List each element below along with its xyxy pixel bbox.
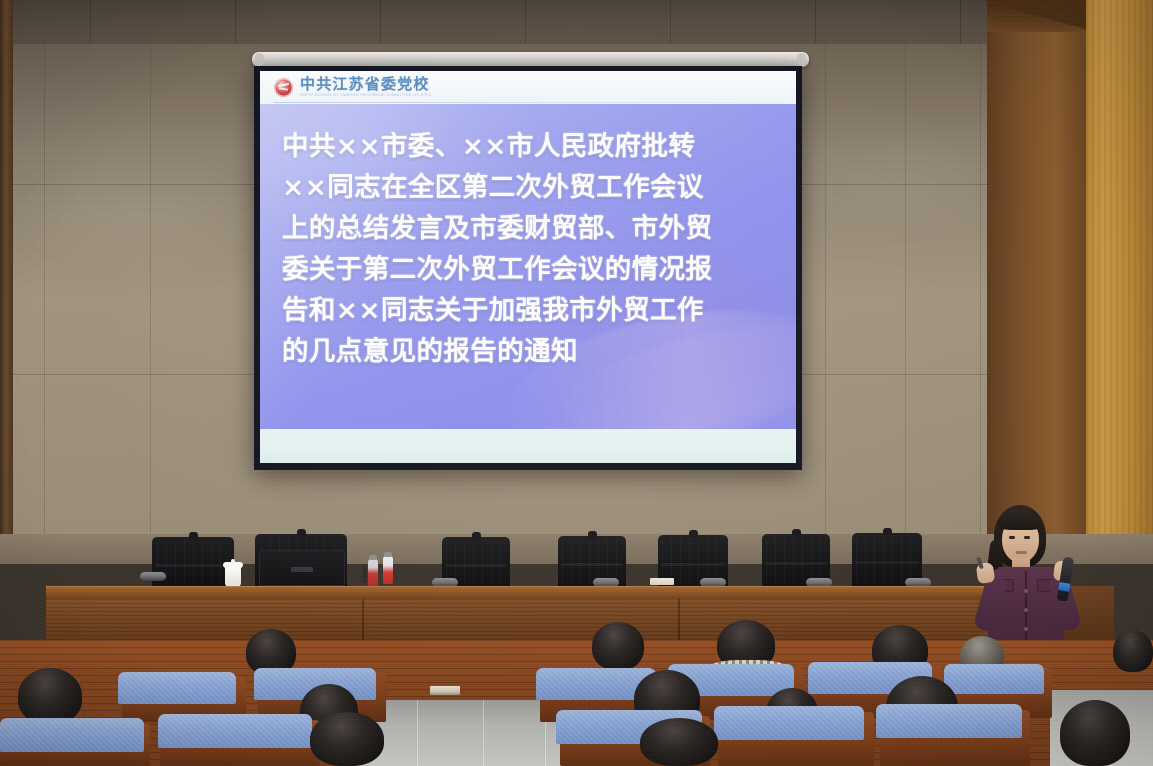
audience-seat[interactable] (714, 706, 864, 740)
laptop[interactable] (259, 550, 345, 586)
slide-header: 中共江苏省委党校 PARTY SCHOOL OF JIANGSU PROVINC… (260, 71, 796, 104)
audience-head (1060, 700, 1130, 766)
roller-cap-left (255, 53, 264, 66)
projection-screen[interactable]: 中共江苏省委党校 PARTY SCHOOL OF JIANGSU PROVINC… (254, 66, 802, 470)
slide-body: 中共××市委、××市人民政府批转 ××同志在全区第二次外贸工作会议 上的总结发言… (260, 104, 796, 429)
audience-head (310, 712, 384, 766)
audience-head (592, 622, 644, 670)
chair-armrest (140, 572, 166, 581)
audience-head (640, 718, 718, 766)
slide-footer-band (260, 429, 796, 463)
right-wood-panel-dark (987, 0, 1086, 545)
wall-corner-bevel (986, 0, 1086, 36)
audience-seat[interactable] (944, 664, 1044, 694)
water-bottle[interactable] (368, 559, 378, 587)
presidium-chair[interactable] (152, 537, 234, 589)
header-divider (274, 102, 786, 103)
upper-wall-band (0, 0, 1153, 44)
slide-title-line-4: 委关于第二次外贸工作会议的情况报 (282, 249, 774, 290)
presenter-eye-left (1009, 536, 1015, 539)
lecture-hall-scene: 中共江苏省委党校 PARTY SCHOOL OF JIANGSU PROVINC… (0, 0, 1153, 766)
organization-name-cn: 中共江苏省委党校 (300, 77, 433, 93)
audience-seat[interactable] (876, 704, 1022, 738)
slide-title-block: 中共××市委、××市人民政府批转 ××同志在全区第二次外贸工作会议 上的总结发言… (260, 104, 796, 372)
projected-slide: 中共江苏省委党校 PARTY SCHOOL OF JIANGSU PROVINC… (260, 71, 796, 463)
water-bottle[interactable] (383, 556, 393, 584)
projector-screen-roller[interactable] (252, 52, 809, 67)
presenter-fringe (999, 513, 1042, 530)
organization-block: 中共江苏省委党校 PARTY SCHOOL OF JIANGSU PROVINC… (300, 77, 433, 97)
presidium-table-top (46, 586, 994, 599)
seat-writing-surface (430, 686, 460, 695)
audience-seat[interactable] (118, 672, 236, 704)
audience-head (1113, 630, 1153, 672)
audience-seat[interactable] (158, 714, 312, 748)
papers[interactable] (650, 578, 674, 585)
audience-head (18, 668, 82, 724)
desk-microphone[interactable] (363, 566, 366, 583)
presenter-eye-right (1024, 536, 1030, 539)
slide-title-line-5: 告和××同志关于加强我市外贸工作 (282, 290, 774, 331)
left-door-jamb (0, 0, 13, 534)
slide-title-line-6: 的几点意见的报告的通知 (282, 331, 774, 372)
roller-cap-right (797, 53, 806, 66)
party-school-emblem-icon (274, 78, 293, 97)
presenter-mouth (1016, 551, 1027, 554)
right-wood-panel-light (1086, 0, 1153, 560)
slide-title-line-2: ××同志在全区第二次外贸工作会议 (282, 167, 774, 208)
teacup[interactable] (225, 566, 241, 587)
slide-title-line-3: 上的总结发言及市委财贸部、市外贸 (282, 208, 774, 249)
audience-seat[interactable] (0, 718, 144, 752)
slide-title-line-1: 中共××市委、××市人民政府批转 (282, 126, 774, 167)
organization-name-en: PARTY SCHOOL OF JIANGSU PROVINCIAL COMMI… (300, 94, 433, 98)
